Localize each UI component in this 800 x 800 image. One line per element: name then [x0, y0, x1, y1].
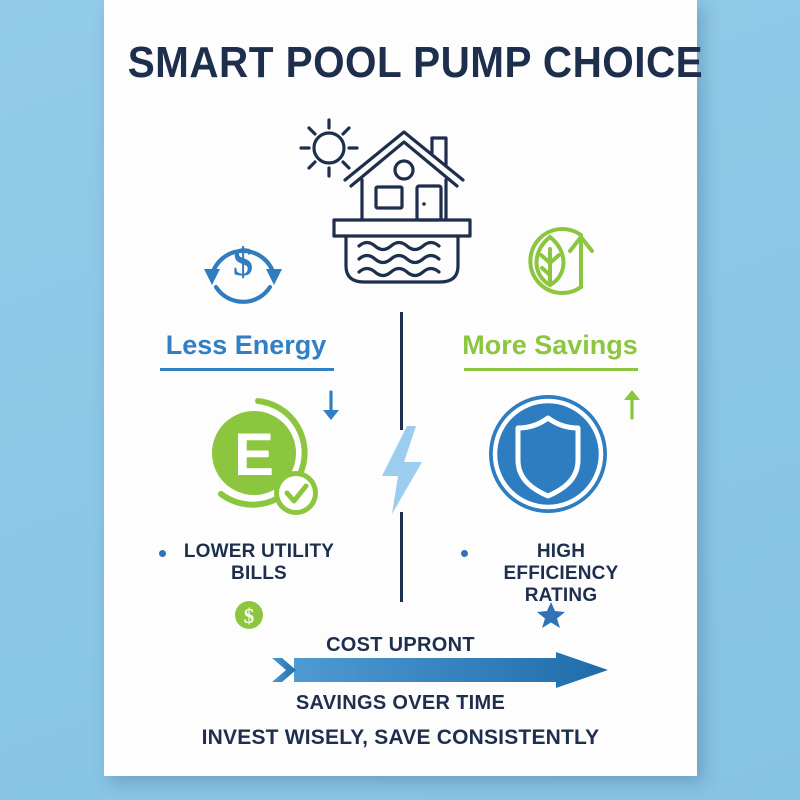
- right-arrow-progress-icon: [272, 652, 608, 688]
- bullet-left-label: LOWER UTILITY BILLS: [175, 541, 343, 585]
- dollar-coin-icon: $: [234, 600, 264, 630]
- house-with-pool-and-sun-icon: [280, 108, 520, 298]
- lightning-bolt-icon: [376, 424, 428, 516]
- column-rule-right: [464, 368, 638, 371]
- dollar-coin-glyph: $: [244, 604, 255, 628]
- tagline: INVEST WISELY, SAVE CONSISTENTLY: [104, 726, 697, 750]
- bullet-right-label: HIGH EFFICIENCY RATING: [477, 541, 645, 607]
- savings-over-time-label: SAVINGS OVER TIME: [104, 692, 697, 715]
- bullet-left: LOWER UTILITY BILLS: [136, 541, 366, 585]
- leaf-cycle-icon: [510, 213, 616, 309]
- energy-rating-e-badge-icon: E: [188, 395, 328, 520]
- arrow-up-icon: [616, 388, 648, 422]
- energy-letter-glyph: E: [234, 421, 274, 488]
- center-divider-bottom: [400, 512, 403, 602]
- bullet-dot-icon: [461, 550, 468, 557]
- money-cycle-icon: $: [190, 213, 296, 309]
- bullet-dot-icon: [159, 550, 166, 557]
- column-rule-left: [160, 368, 334, 371]
- column-heading-less-energy: Less Energy: [146, 330, 346, 361]
- center-divider-top: [400, 312, 403, 430]
- infographic-poster: SMART POOL PUMP CHOICE: [104, 0, 697, 776]
- shield-badge-icon: [486, 392, 616, 517]
- column-heading-more-savings: More Savings: [450, 330, 650, 361]
- star-icon: [536, 600, 566, 630]
- bullet-right: HIGH EFFICIENCY RATING: [438, 541, 668, 607]
- page-title: SMART POOL PUMP CHOICE: [128, 38, 674, 88]
- arrow-down-icon: [315, 388, 347, 422]
- dollar-sign-glyph: $: [233, 239, 253, 284]
